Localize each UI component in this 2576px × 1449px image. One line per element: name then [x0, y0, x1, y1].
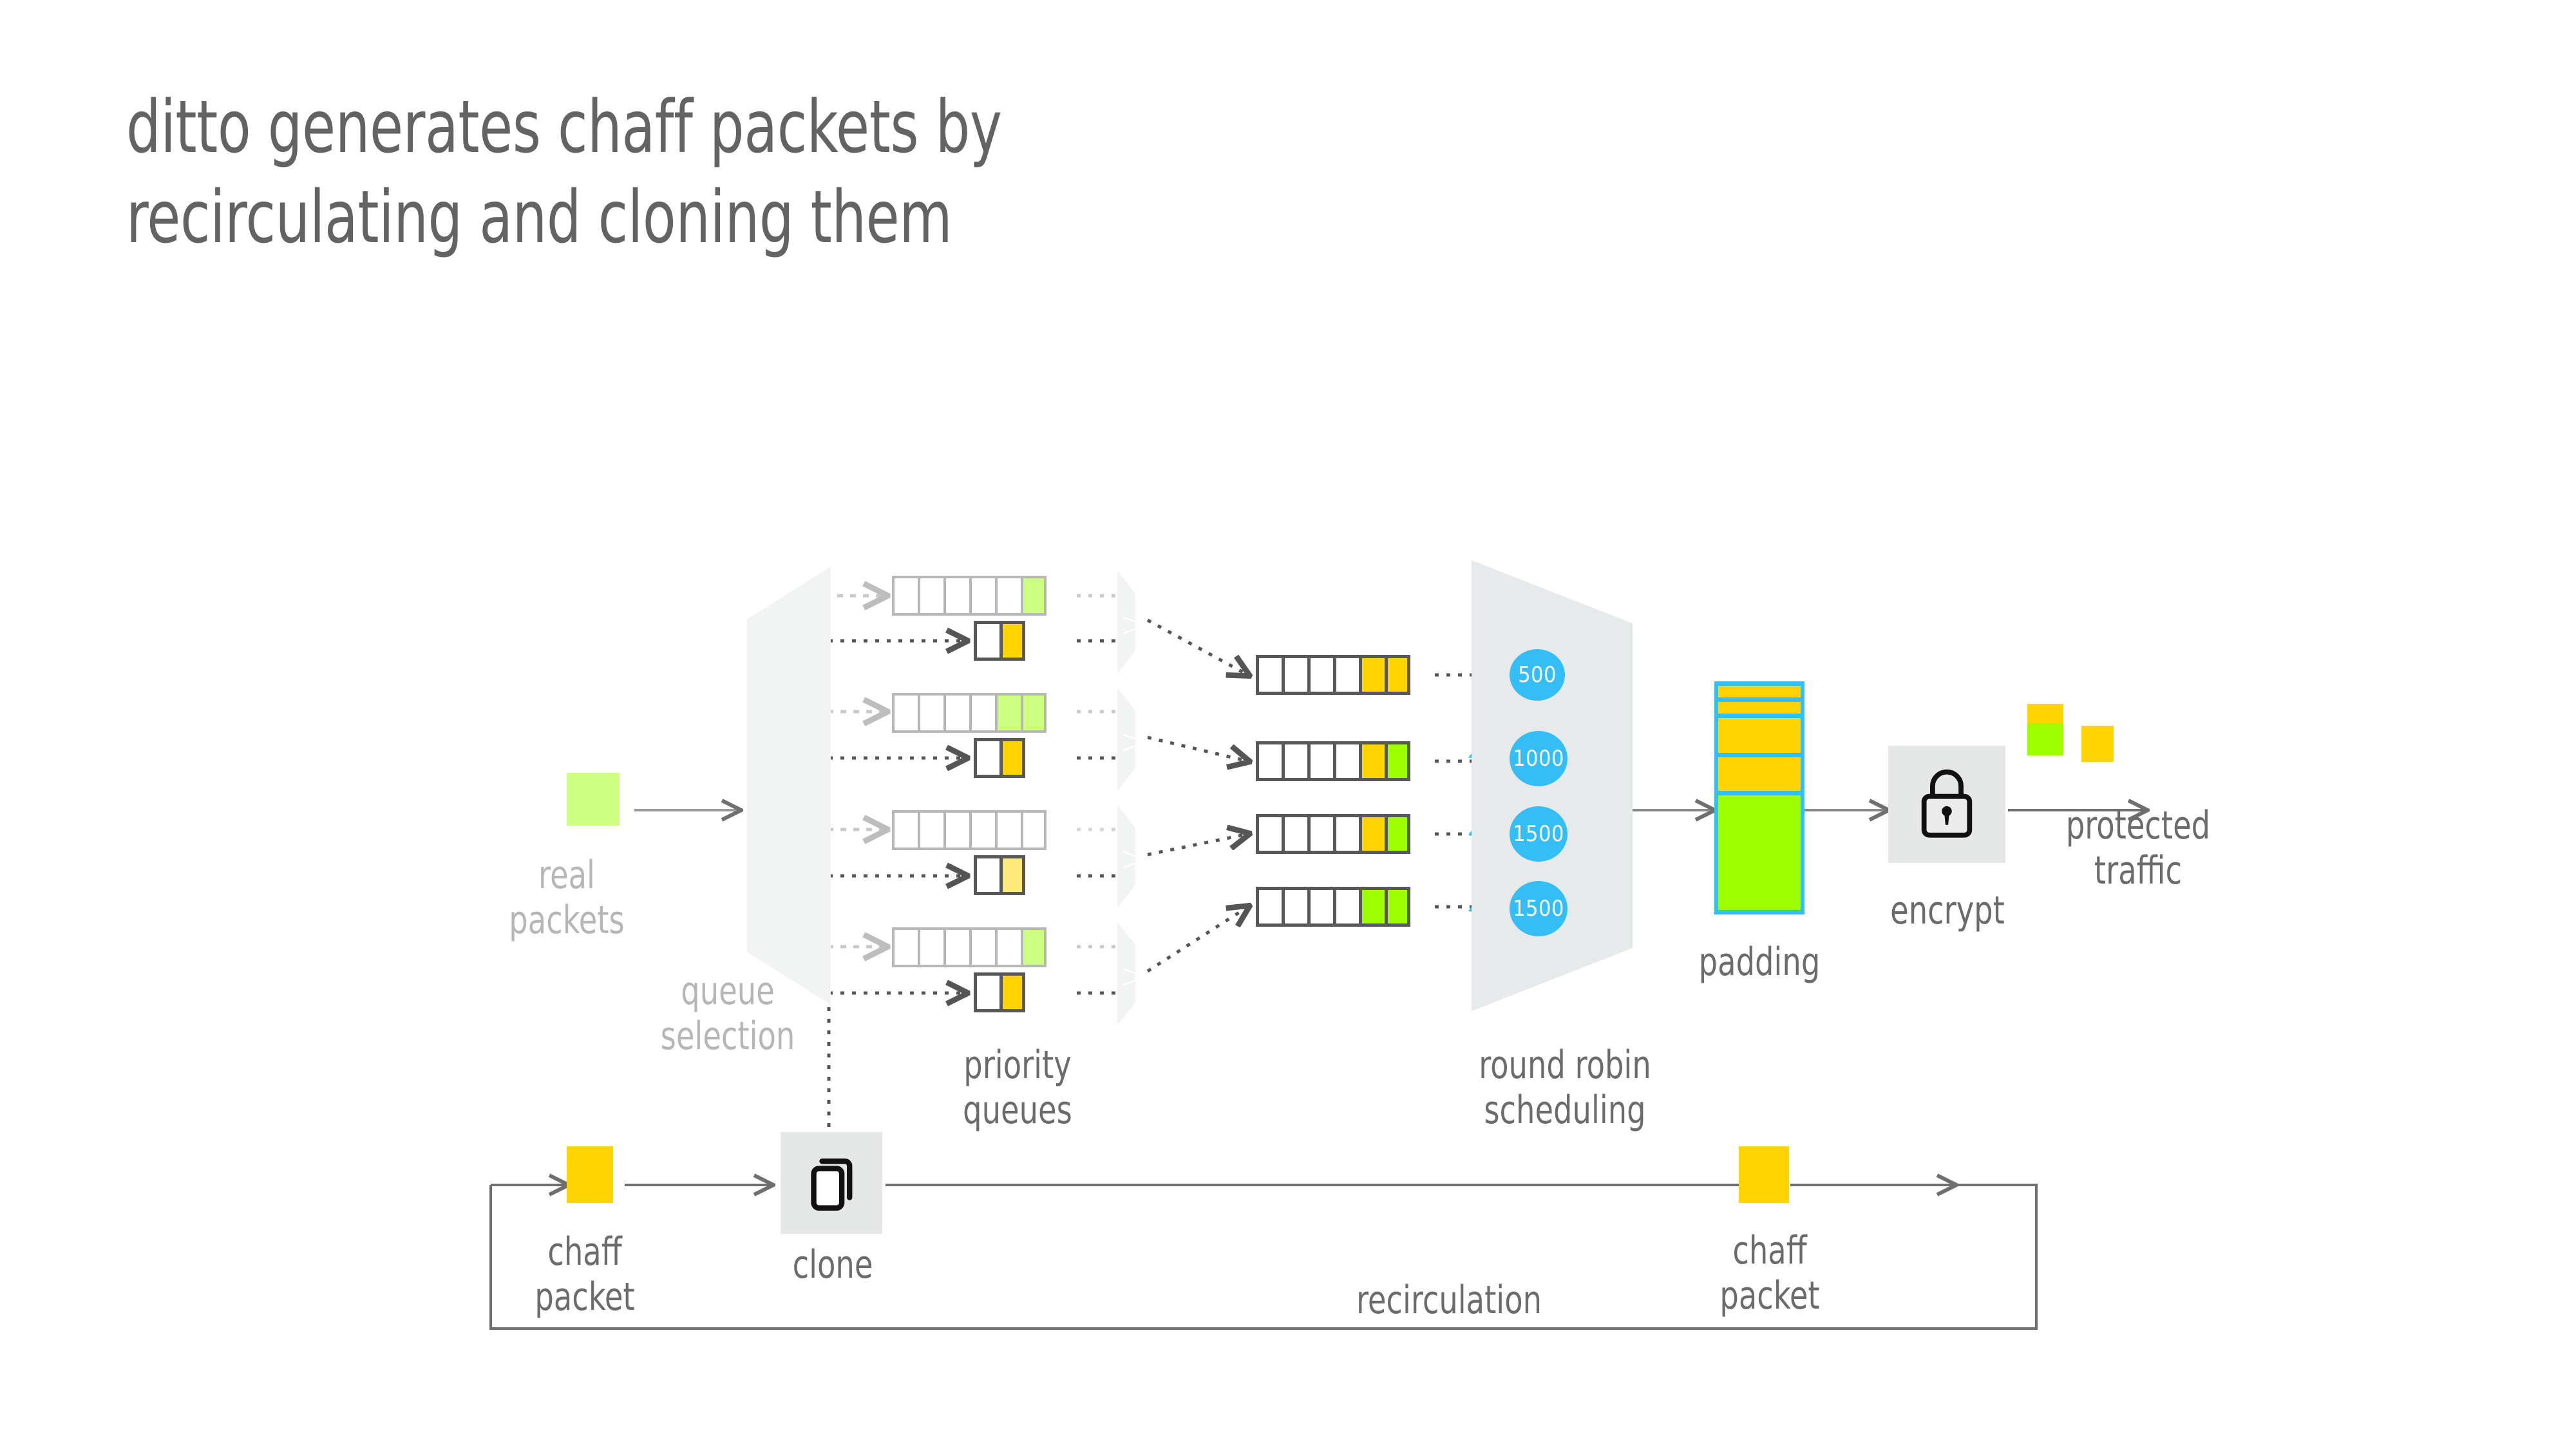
- greater-than-icon: >: [1120, 956, 1149, 996]
- queue-cell: [892, 927, 918, 967]
- queue-cell: [892, 810, 918, 850]
- chaff-queue-row: [974, 621, 1025, 661]
- queue-cell-filled: [1385, 655, 1410, 695]
- queue-cell: [1333, 655, 1359, 695]
- greater-than-icon: >: [1120, 721, 1149, 762]
- round-robin-input-queue: [1256, 887, 1410, 927]
- queue-cell: [1282, 741, 1307, 781]
- chaff-queue-row: [974, 855, 1025, 895]
- queue-cell: [995, 576, 1021, 616]
- protected-traffic-label: protected traffic: [2005, 804, 2271, 893]
- queue-selection-label: queue selection: [617, 969, 838, 1059]
- queue-cell-filled: [1359, 741, 1385, 781]
- queue-cell: [1307, 655, 1333, 695]
- queue-cell: [918, 576, 943, 616]
- chaff-queue-row: [974, 738, 1025, 778]
- encrypt-label: encrypt: [1879, 889, 2016, 934]
- chaff-packet-label-right: chaff packet: [1692, 1229, 1848, 1318]
- queue-cell: [943, 576, 969, 616]
- queue-cell: [918, 693, 943, 733]
- queue-cell: [1256, 887, 1282, 927]
- queue-cell-filled: [1021, 576, 1046, 616]
- lock-icon: [1913, 766, 1981, 842]
- queue-cell-filled: [1359, 814, 1385, 854]
- round-robin-scheduling-label: round robin scheduling: [1426, 1043, 1703, 1133]
- queue-cell-filled: [999, 738, 1025, 778]
- queue-cell-filled: [1359, 887, 1385, 927]
- queue-selection-trapezoid: [747, 567, 831, 1005]
- queue-cell: [995, 927, 1021, 967]
- real-queue-row: [892, 576, 1046, 616]
- padding-band: [1718, 757, 1801, 791]
- queue-cell: [943, 693, 969, 733]
- quantum-value: 1500: [1513, 896, 1564, 922]
- queue-cell-filled: [1359, 655, 1385, 695]
- chaff-packet-label-left: chaff packet: [507, 1230, 663, 1320]
- round-robin-quantum-badge: 1500: [1510, 806, 1567, 862]
- queue-cell-filled: [995, 693, 1021, 733]
- chaff-queue-row: [974, 972, 1025, 1012]
- priority-queues-label: priority queues: [918, 1043, 1117, 1133]
- round-robin-scheduler-trapezoid: [1472, 560, 1633, 1011]
- queue-cell: [892, 693, 918, 733]
- queue-cell: [1307, 887, 1333, 927]
- queue-cell: [995, 810, 1021, 850]
- queue-cell: [974, 621, 999, 661]
- protected-traffic-segment: [2027, 724, 2063, 755]
- queue-cell-filled: [999, 855, 1025, 895]
- queue-cell: [1333, 887, 1359, 927]
- queue-cell-filled: [1021, 927, 1046, 967]
- queue-cell: [943, 927, 969, 967]
- queue-cell: [969, 927, 995, 967]
- quantum-value: 1000: [1513, 746, 1564, 772]
- real-queue-row: [892, 810, 1046, 850]
- slide-canvas: ditto generates chaff packets by recircu…: [0, 0, 2576, 1449]
- recirculation-label: recirculation: [1321, 1278, 1577, 1323]
- queue-cell: [1021, 810, 1046, 850]
- padding-label: padding: [1693, 940, 1826, 985]
- round-robin-quantum-badge: 500: [1510, 649, 1565, 701]
- queue-cell: [974, 855, 999, 895]
- queue-cell: [1256, 814, 1282, 854]
- encrypt-box: [1888, 746, 2005, 863]
- chaff-packet-square-right: [1739, 1146, 1789, 1203]
- queue-cell: [1256, 741, 1282, 781]
- queue-cell: [918, 810, 943, 850]
- queue-cell: [1333, 741, 1359, 781]
- padding-band: [1718, 686, 1801, 697]
- quantum-value: 1500: [1513, 821, 1564, 847]
- clone-label: clone: [768, 1243, 898, 1288]
- queue-cell: [1282, 655, 1307, 695]
- copy-icon: [804, 1151, 858, 1215]
- protected-traffic-bar: [2027, 704, 2063, 755]
- page-title: ditto generates chaff packets by recircu…: [126, 82, 1370, 263]
- queue-cell: [943, 810, 969, 850]
- queue-cell: [1282, 887, 1307, 927]
- padding-stack: [1714, 681, 1804, 914]
- greater-than-icon: >: [1120, 604, 1149, 645]
- queue-cell: [1256, 655, 1282, 695]
- round-robin-input-queue: [1256, 741, 1410, 781]
- queue-cell: [1307, 814, 1333, 854]
- padding-band: [1718, 718, 1801, 753]
- queue-cell: [1282, 814, 1307, 854]
- round-robin-quantum-badge: 1000: [1510, 731, 1567, 786]
- padding-band: [1718, 702, 1801, 714]
- queue-cell: [969, 576, 995, 616]
- queue-cell: [892, 576, 918, 616]
- queue-cell-filled: [1385, 887, 1410, 927]
- protected-traffic-bar: [2081, 726, 2114, 762]
- chaff-packet-square-left: [567, 1146, 613, 1203]
- padding-band: [1718, 795, 1801, 910]
- real-packet-square: [567, 773, 620, 826]
- queue-cell-filled: [1385, 741, 1410, 781]
- queue-cell: [969, 810, 995, 850]
- real-packets-label: real packets: [500, 853, 633, 943]
- queue-cell-filled: [1385, 814, 1410, 854]
- quantum-value: 500: [1518, 662, 1557, 688]
- queue-cell: [918, 927, 943, 967]
- greater-than-icon: >: [1120, 838, 1149, 879]
- queue-cell: [1333, 814, 1359, 854]
- queue-cell: [974, 972, 999, 1012]
- queue-cell: [969, 693, 995, 733]
- queue-cell-filled: [1021, 693, 1046, 733]
- real-queue-row: [892, 927, 1046, 967]
- real-queue-row: [892, 693, 1046, 733]
- clone-box: [781, 1132, 882, 1234]
- queue-cell-filled: [999, 621, 1025, 661]
- round-robin-input-queue: [1256, 814, 1410, 854]
- queue-cell: [1307, 741, 1333, 781]
- round-robin-quantum-badge: 1500: [1510, 881, 1567, 936]
- round-robin-input-queue: [1256, 655, 1410, 695]
- queue-cell: [974, 738, 999, 778]
- queue-cell-filled: [999, 972, 1025, 1012]
